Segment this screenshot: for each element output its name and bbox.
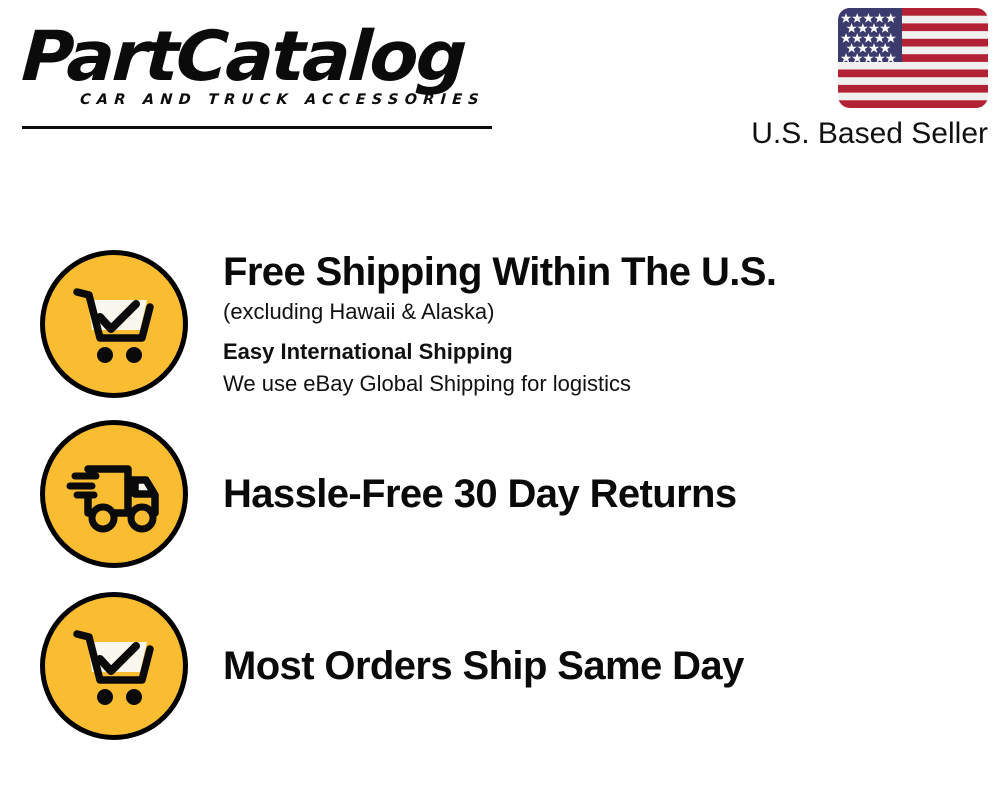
page-header: PartCatalog CAR AND TRUCK ACCESSORIES (0, 0, 1000, 170)
brand-logo[interactable]: PartCatalog CAR AND TRUCK ACCESSORIES (22, 22, 492, 117)
feature-subtext-international-heading: Easy International Shipping (223, 336, 776, 368)
feature-text-block: Hassle-Free 30 Day Returns (223, 470, 737, 518)
seller-badge-label: U.S. Based Seller (723, 116, 988, 152)
feature-subtext-international-detail: We use eBay Global Shipping for logistic… (223, 368, 776, 400)
feature-heading: Most Orders Ship Same Day (223, 642, 744, 690)
seller-badge: U.S. Based Seller (723, 8, 988, 152)
feature-text-block: Free Shipping Within The U.S. (excluding… (223, 248, 776, 400)
feature-row: Free Shipping Within The U.S. (excluding… (40, 248, 776, 400)
brand-tagline: CAR AND TRUCK ACCESSORIES (79, 92, 485, 108)
feature-heading: Free Shipping Within The U.S. (223, 248, 776, 296)
feature-heading: Hassle-Free 30 Day Returns (223, 470, 737, 518)
feature-row: Most Orders Ship Same Day (40, 592, 744, 740)
feature-row: Hassle-Free 30 Day Returns (40, 420, 737, 568)
shopping-cart-check-icon (40, 592, 188, 740)
delivery-truck-icon (40, 420, 188, 568)
shopping-cart-check-icon (40, 250, 188, 398)
brand-underline-rule (22, 126, 492, 129)
brand-wordmark: PartCatalog (20, 22, 508, 92)
feature-text-block: Most Orders Ship Same Day (223, 642, 744, 690)
feature-subtext-exclusion: (excluding Hawaii & Alaska) (223, 296, 776, 328)
us-flag-icon (838, 8, 988, 108)
